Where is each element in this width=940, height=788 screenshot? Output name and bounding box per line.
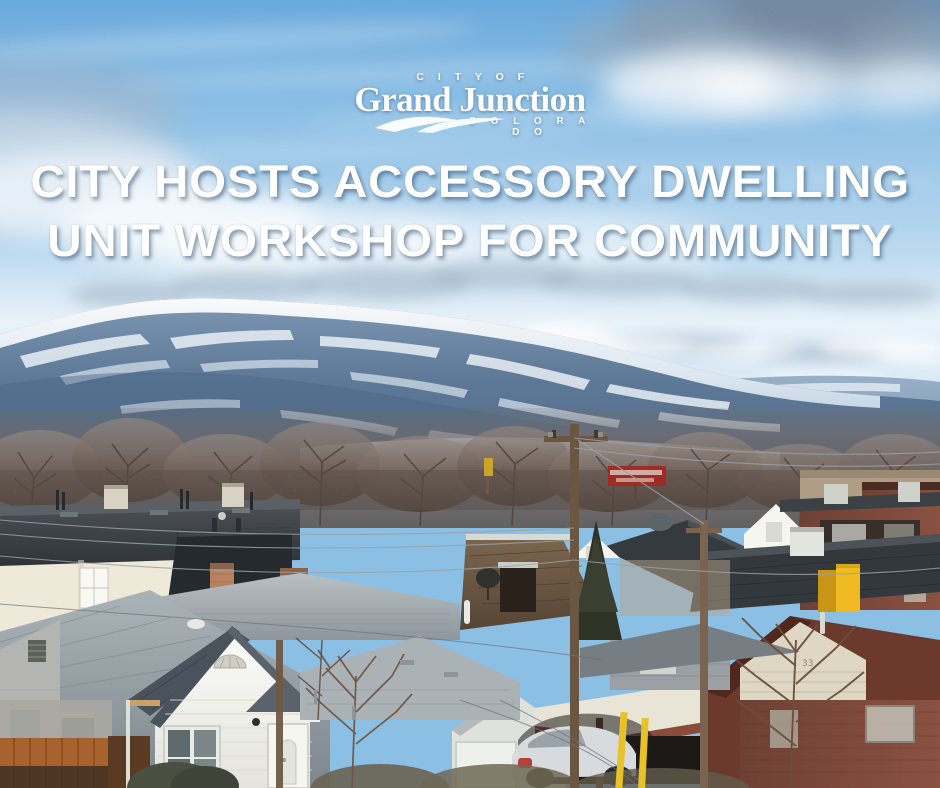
foreground-white-house [120, 626, 320, 788]
midleft-grey-roof [300, 636, 520, 720]
headline: CITY HOSTS ACCESSORY DWELLING UNIT WORKS… [0, 152, 940, 270]
city-logo: C I T Y O F Grand Junction C O L O R A D… [345, 72, 595, 134]
headline-line-1: CITY HOSTS ACCESSORY DWELLING [0, 152, 940, 211]
yellow-utility-box [818, 564, 860, 612]
news-graphic-canvas: 33 [0, 0, 940, 788]
river-swoosh-icon [373, 112, 553, 134]
midground-cream-building [620, 560, 730, 616]
svg-text:33: 33 [802, 659, 813, 669]
headline-line-2: UNIT WORKSHOP FOR COMMUNITY [0, 211, 940, 270]
utility-pole [276, 640, 283, 788]
